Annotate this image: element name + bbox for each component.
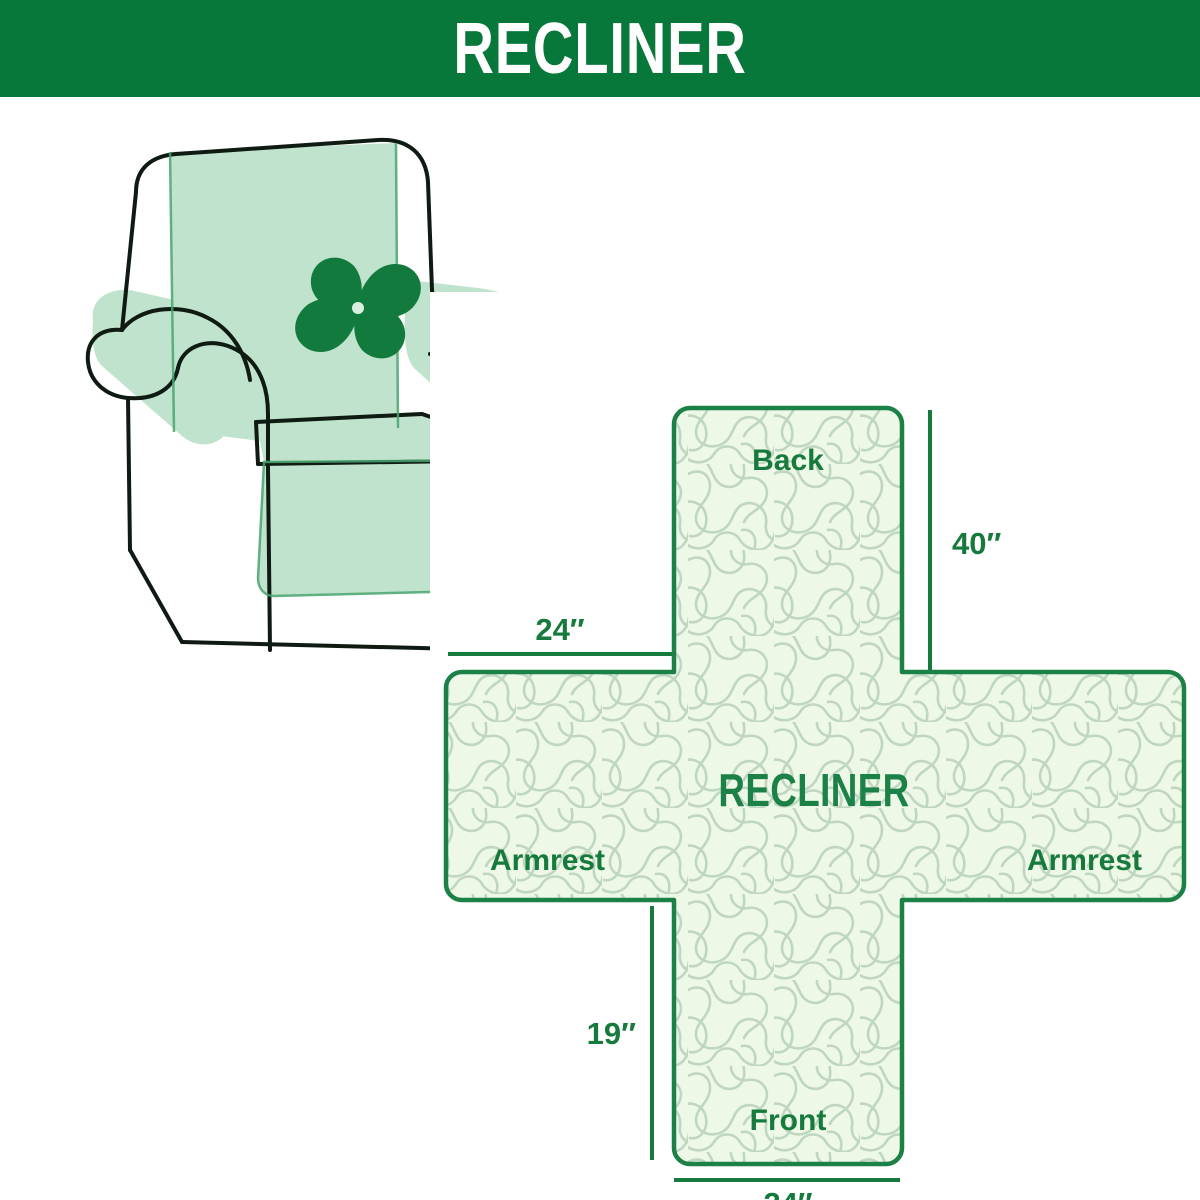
header-banner: RECLINER (0, 0, 1200, 97)
cross-pattern-shape-rendered (430, 292, 1200, 1200)
panel-label-armrest-left: Armrest (490, 844, 605, 877)
svg-text:24″: 24″ (535, 612, 584, 647)
slipcover-pattern-diagram: Back RECLINER Armrest Armrest Front 40″ … (430, 292, 1200, 1200)
svg-text:19″: 19″ (587, 1016, 636, 1051)
panel-label-armrest-right: Armrest (1027, 844, 1142, 877)
svg-text:24″: 24″ (763, 1186, 812, 1200)
panel-label-back: Back (752, 444, 824, 477)
main-canvas: Back RECLINER Armrest Armrest Front 40″ … (0, 97, 1200, 1200)
svg-text:40″: 40″ (952, 526, 1001, 561)
panel-label-front: Front (750, 1104, 827, 1137)
page-title: RECLINER (453, 13, 746, 85)
pinwheel-fan-logo (295, 258, 421, 359)
panel-label-center: RECLINER (718, 764, 909, 816)
